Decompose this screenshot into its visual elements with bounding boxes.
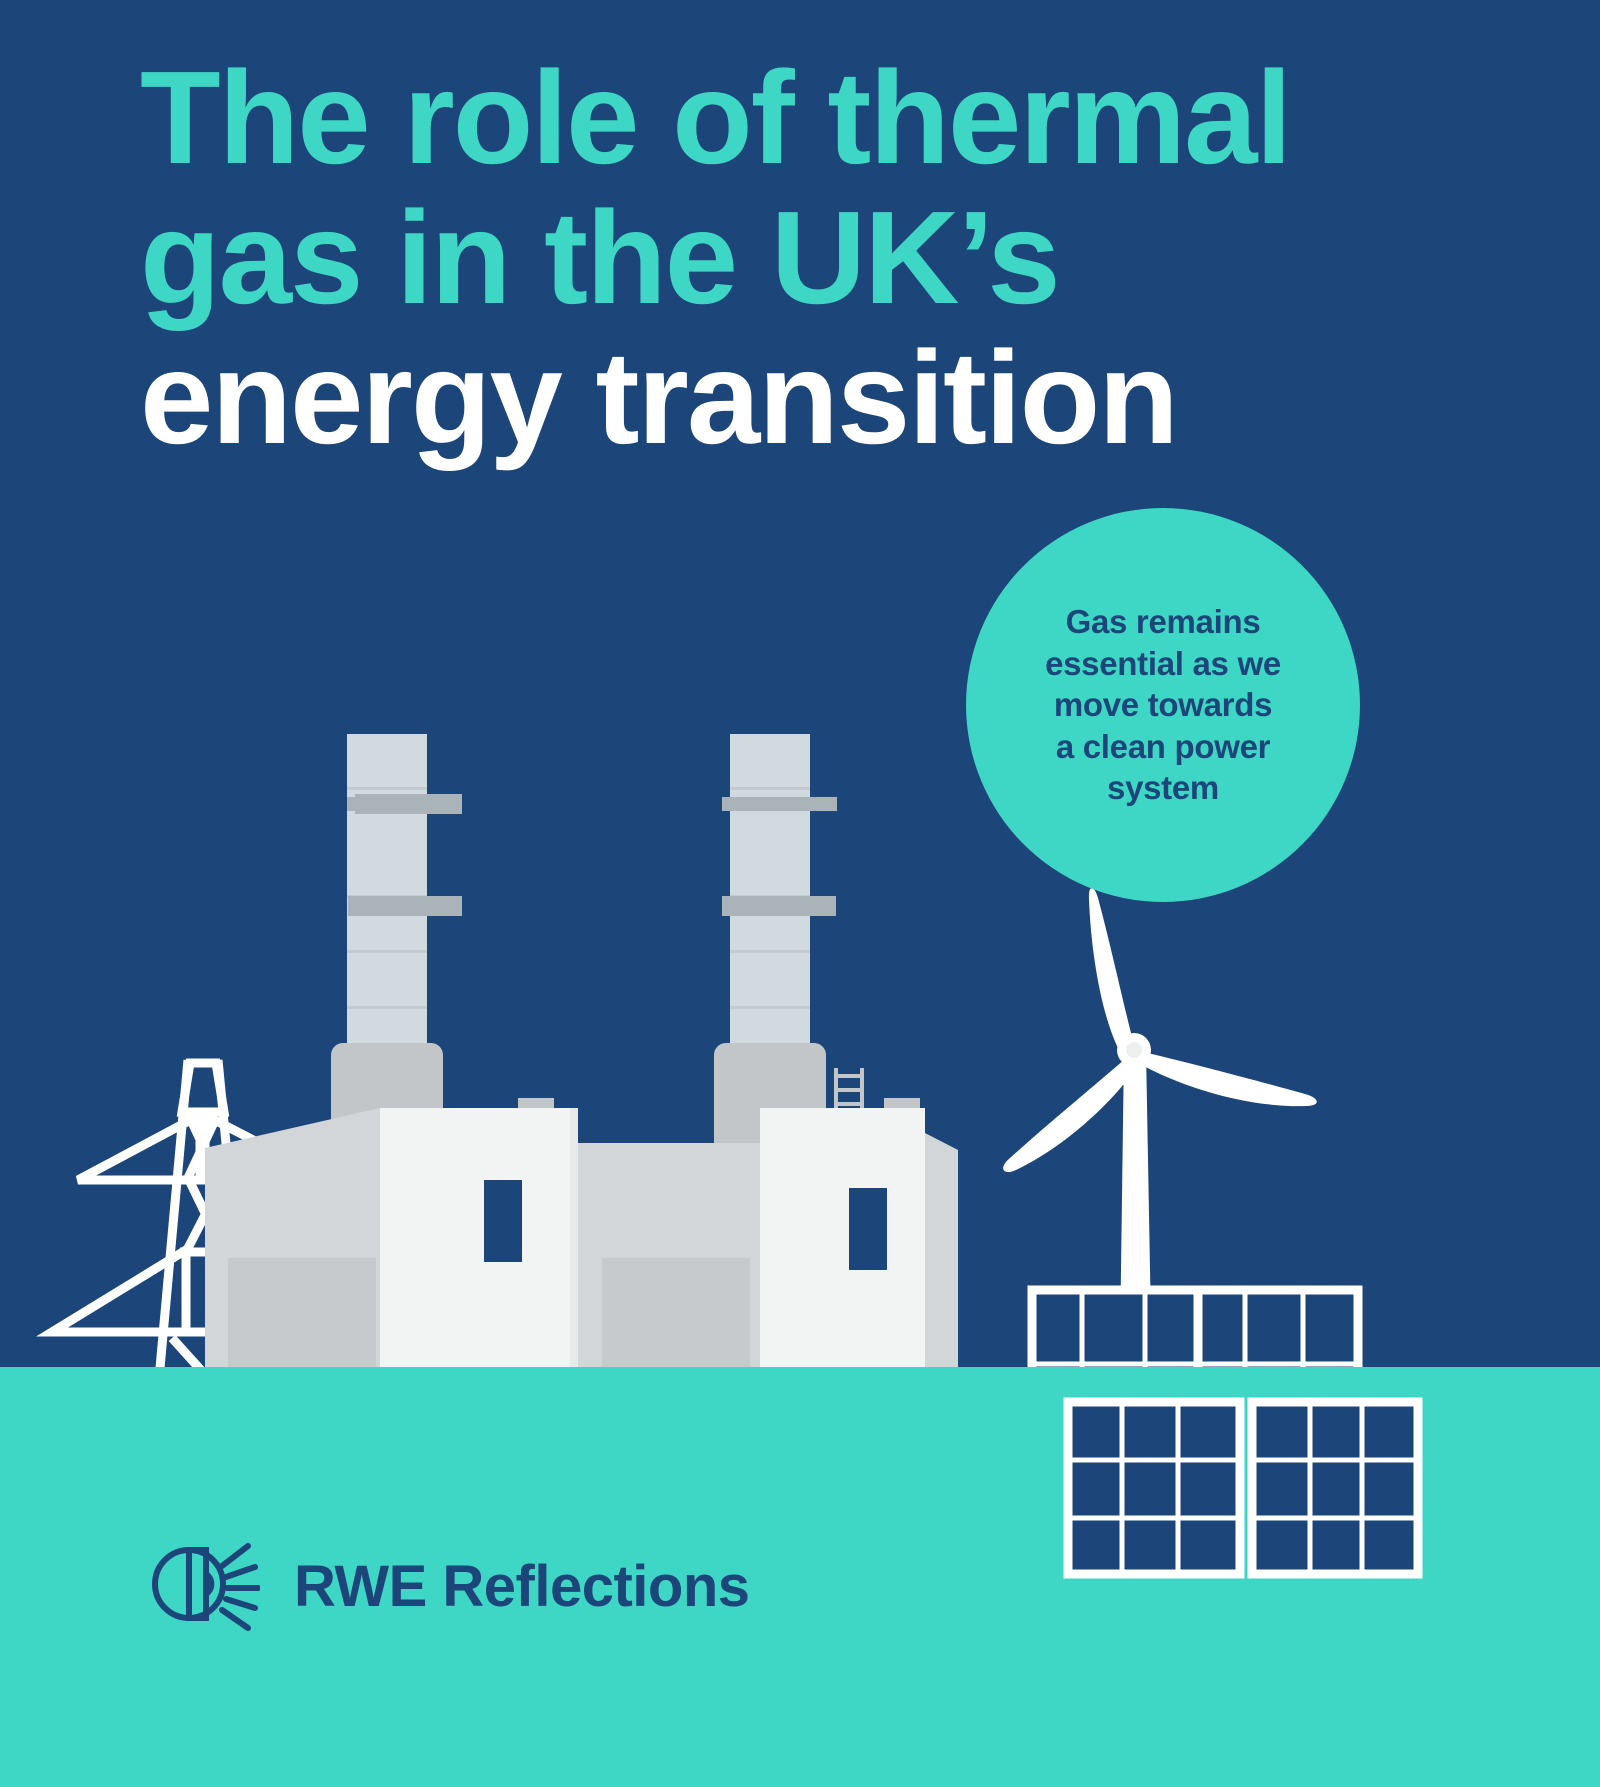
badge-line-2: essential as we (1008, 643, 1318, 685)
badge-line-3: move towards (1008, 684, 1318, 726)
brand-name: RWE Reflections (294, 1553, 750, 1620)
badge-line-4: a clean power (1008, 726, 1318, 768)
badge-line-5: system (1008, 767, 1318, 809)
solar-panel (1252, 1402, 1418, 1574)
solar-panel-array-foreground (1068, 1402, 1418, 1574)
solar-panel (1068, 1402, 1240, 1574)
poster-canvas: The role of thermal gas in the UK’s ener… (0, 0, 1600, 1787)
brand-lockup[interactable]: RWE Reflections (142, 1536, 750, 1637)
highlight-badge-text: Gas remains essential as we move towards… (1008, 601, 1318, 809)
badge-line-1: Gas remains (1008, 601, 1318, 643)
highlight-badge: Gas remains essential as we move towards… (966, 508, 1360, 902)
beacon-lamp-icon (142, 1536, 260, 1637)
illustration-foreground (0, 0, 1600, 1787)
